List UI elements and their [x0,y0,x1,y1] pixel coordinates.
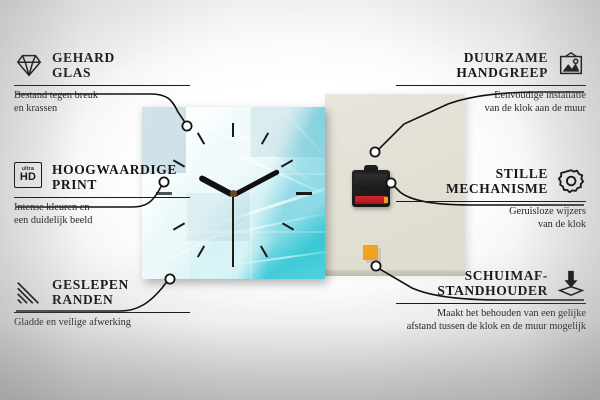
callout-description: Intense kleuren en een duidelijk beeld [14,202,210,227]
diamond-icon [14,50,44,80]
callout-title: SCHUIMAF- STANDHOUDER [437,268,548,298]
callout-description: Geruisloze wijzers van de klok [390,206,586,231]
callout-header: GESLEPEN RANDEN [14,277,210,307]
ultra-hd-icon: ultra HD [14,162,44,192]
picture-frame-icon [556,50,586,80]
callout-divider [396,85,586,86]
callout-title: GESLEPEN RANDEN [52,277,129,307]
callout-description: Gladde en veilige afwerking [14,317,210,330]
callout-description: Bestand tegen breuk en krassen [14,90,210,115]
callout-geslepen-randen: GESLEPEN RANDEN Gladde en veilige afwerk… [14,277,210,330]
ultra-hd-big-label: HD [20,172,36,183]
callout-schuimaf-standhouder: SCHUIMAF- STANDHOUDER Maakt het behouden… [390,268,586,333]
callout-divider [14,312,190,313]
callout-header: SCHUIMAF- STANDHOUDER [390,268,586,298]
callout-title: GEHARD GLAS [52,50,115,80]
callout-header: STILLE MECHANISME [390,166,586,196]
gear-icon [556,166,586,196]
callout-header: DUURZAME HANDGREEP [390,50,586,80]
infographic-canvas: GEHARD GLAS Bestand tegen breuk en krass… [0,0,600,400]
callout-hoogwaardige-print: ultra HD HOOGWAARDIGE PRINT Intense kleu… [14,162,210,227]
callout-description: Maakt het behouden van een gelijke afsta… [390,308,586,333]
callout-divider [14,197,190,198]
callout-divider [14,85,190,86]
callout-title: HOOGWAARDIGE PRINT [52,162,177,192]
bevelled-edge-icon [14,277,44,307]
callout-gehard-glas: GEHARD GLAS Bestand tegen breuk en krass… [14,50,210,115]
callout-header: GEHARD GLAS [14,50,210,80]
callout-duurzame-handgreep: DUURZAME HANDGREEP Eenvoudige installati… [390,50,586,115]
callout-stille-mechanisme: STILLE MECHANISME Geruisloze wijzers van… [390,166,586,231]
callout-title: DUURZAME HANDGREEP [456,50,548,80]
callout-divider [396,303,586,304]
foam-spacer-icon [556,268,586,298]
callout-description: Eenvoudige installatie van de klok aan d… [390,90,586,115]
callout-title: STILLE MECHANISME [446,166,548,196]
callout-header: ultra HD HOOGWAARDIGE PRINT [14,162,210,192]
callout-divider [396,201,586,202]
